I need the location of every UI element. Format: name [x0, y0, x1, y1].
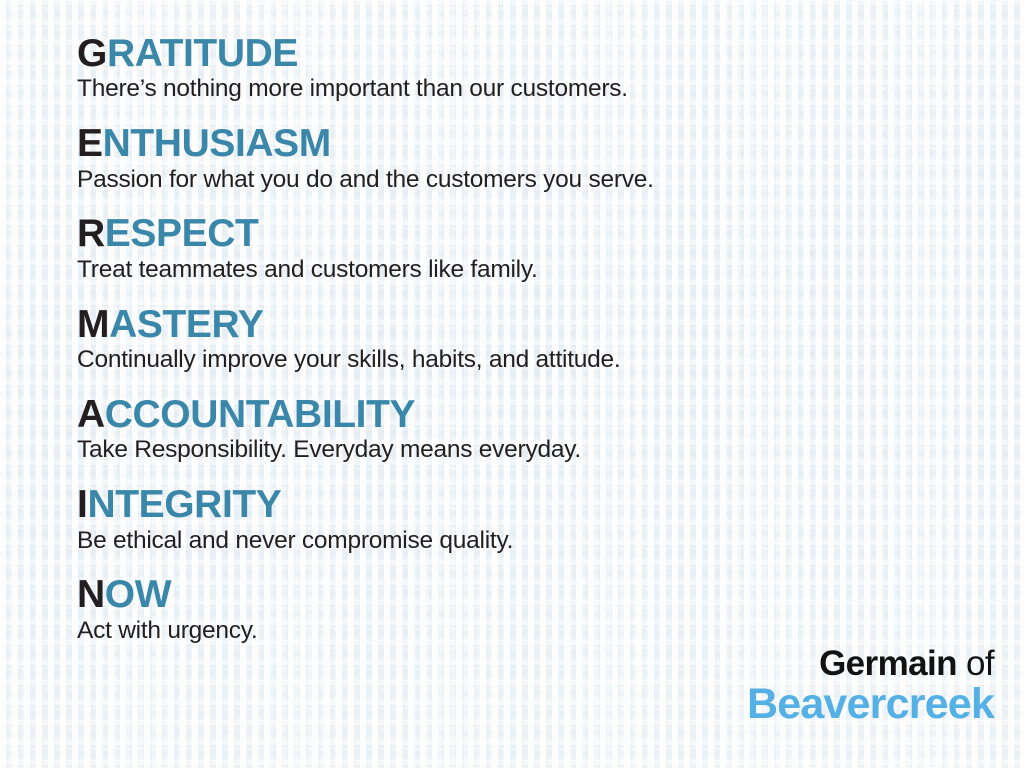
value-heading-respect: RESPECT [77, 213, 997, 254]
value-heading-mastery: MASTERY [77, 304, 997, 345]
value-initial-letter: I [77, 483, 87, 526]
value-description-integrity: Be ethical and never compromise quality. [77, 527, 997, 556]
value-heading-rest: RATITUDE [107, 32, 298, 75]
value-heading-enthusiasm: ENTHUSIASM [77, 123, 997, 164]
value-heading-rest: CCOUNTABILITY [105, 393, 415, 436]
value-description-mastery: Continually improve your skills, habits,… [77, 346, 997, 375]
value-initial-letter: A [77, 393, 105, 436]
value-heading-integrity: INTEGRITY [77, 484, 997, 525]
value-description-now: Act with urgency. [77, 617, 997, 646]
logo-location-name: Beavercreek [747, 683, 994, 726]
value-heading-now: NOW [77, 574, 997, 615]
value-item-respect: RESPECT Treat teammates and customers li… [77, 213, 997, 284]
value-item-now: NOW Act with urgency. [77, 574, 997, 645]
core-values-list: GRATITUDE There’s nothing more important… [77, 33, 997, 665]
value-initial-letter: R [77, 212, 105, 255]
logo-line-primary: Germain of [747, 646, 994, 681]
value-heading-rest: NTEGRITY [87, 483, 281, 526]
value-initial-letter: M [77, 303, 109, 346]
value-initial-letter: G [77, 32, 107, 75]
value-heading-gratitude: GRATITUDE [77, 33, 997, 74]
value-initial-letter: E [77, 122, 103, 165]
value-initial-letter: N [77, 573, 105, 616]
value-heading-rest: OW [105, 573, 171, 616]
value-description-gratitude: There’s nothing more important than our … [77, 75, 997, 104]
value-item-integrity: INTEGRITY Be ethical and never compromis… [77, 484, 997, 555]
value-description-respect: Treat teammates and customers like famil… [77, 256, 997, 285]
value-item-accountability: ACCOUNTABILITY Take Responsibility. Ever… [77, 394, 997, 465]
value-item-enthusiasm: ENTHUSIASM Passion for what you do and t… [77, 123, 997, 194]
value-description-enthusiasm: Passion for what you do and the customer… [77, 166, 997, 195]
value-description-accountability: Take Responsibility. Everyday means ever… [77, 436, 997, 465]
value-heading-rest: ASTERY [109, 303, 263, 346]
logo-connector-word: of [957, 644, 994, 683]
dealership-logo: Germain of Beavercreek [747, 646, 994, 726]
value-heading-rest: ESPECT [105, 212, 259, 255]
value-heading-rest: NTHUSIASM [103, 122, 331, 165]
value-item-gratitude: GRATITUDE There’s nothing more important… [77, 33, 997, 104]
poster-content: GRATITUDE There’s nothing more important… [0, 0, 1024, 768]
value-heading-accountability: ACCOUNTABILITY [77, 394, 997, 435]
value-item-mastery: MASTERY Continually improve your skills,… [77, 304, 997, 375]
logo-brand-name: Germain [819, 644, 957, 683]
